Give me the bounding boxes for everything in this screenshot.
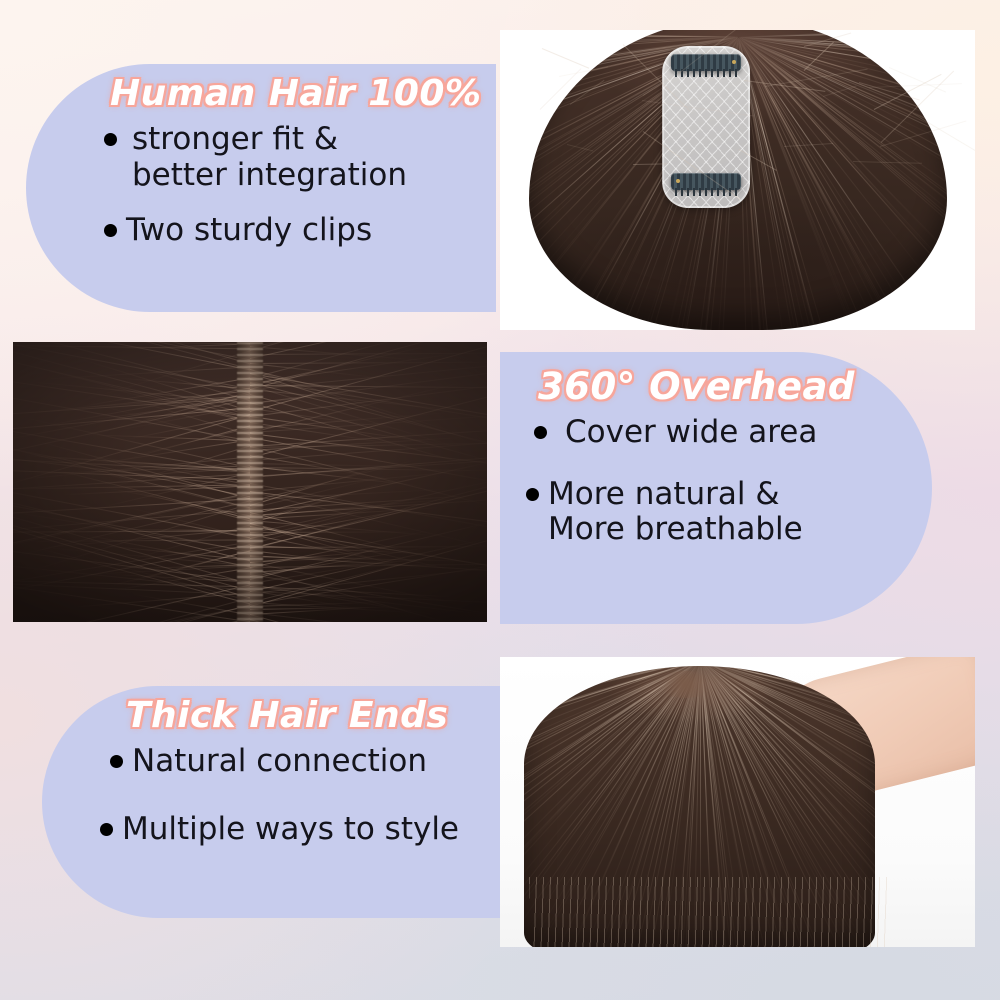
panel-title: Human Hair 100% <box>110 74 496 114</box>
flyaway-hairs <box>500 30 975 330</box>
photo-vignette <box>13 342 487 622</box>
hand-holding-topper-photo <box>500 657 975 947</box>
bullet-text: Two sturdy clips <box>126 213 372 248</box>
bullet-dot-icon <box>104 224 117 237</box>
bullet-item: Cover wide area <box>534 415 932 450</box>
bullet-text: stronger fit & better integration <box>126 122 407 193</box>
panel-bullet-list: Natural connection Multiple ways to styl… <box>100 744 500 879</box>
bullet-dot-icon <box>110 755 123 768</box>
panel-bullet-list: stronger fit & better integration Two st… <box>104 122 496 268</box>
panel-title: 360° Overhead <box>538 366 932 407</box>
feature-panel-human-hair: Human Hair 100% stronger fit & better in… <box>26 64 496 312</box>
feature-panel-thick-hair-ends: Thick Hair Ends Natural connection Multi… <box>42 686 500 918</box>
bullet-text: Multiple ways to style <box>122 812 459 847</box>
bullet-dot-icon <box>104 133 117 146</box>
feature-panel-overhead: 360° Overhead Cover wide area More natur… <box>500 352 932 624</box>
bullet-item: Multiple ways to style <box>100 812 500 847</box>
crown-swirl <box>657 671 713 697</box>
bullet-text: Cover wide area <box>565 415 817 450</box>
bullet-dot-icon <box>100 823 113 836</box>
infographic-canvas: Human Hair 100% stronger fit & better in… <box>0 0 1000 1000</box>
panel-title: Thick Hair Ends <box>126 696 500 736</box>
bullet-item: Two sturdy clips <box>104 213 496 248</box>
bullet-item: Natural connection <box>110 744 500 779</box>
hair-topper-base-with-clips-photo <box>500 30 975 330</box>
thick-hair-ends <box>529 877 890 947</box>
bullet-text: More natural & More breathable <box>548 477 803 548</box>
hair-parting-closeup-photo <box>13 342 487 622</box>
bullet-text: Natural connection <box>132 744 427 779</box>
bullet-item: stronger fit & better integration <box>104 122 496 193</box>
bullet-item: More natural & More breathable <box>526 477 932 548</box>
bullet-dot-icon <box>534 426 547 439</box>
bullet-dot-icon <box>526 488 539 501</box>
panel-bullet-list: Cover wide area More natural & More brea… <box>526 415 932 573</box>
